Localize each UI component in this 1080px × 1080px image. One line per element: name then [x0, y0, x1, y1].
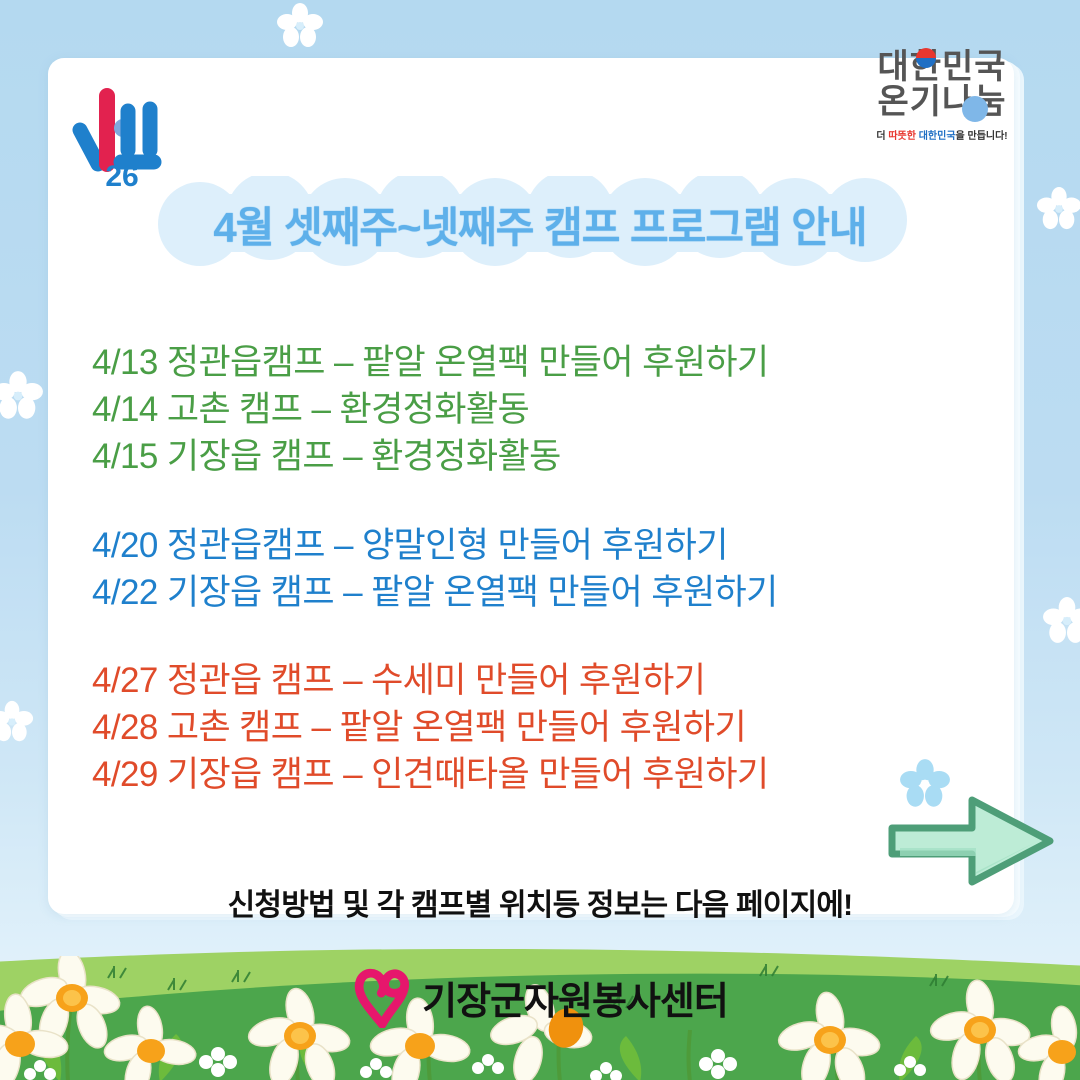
- tagline-korea: 대한민국: [919, 131, 956, 142]
- organization-name: 기장군자원봉사센터: [422, 970, 728, 1025]
- partner-logo-tagline: 더 따뜻한 대한민국을 만듭니다!: [862, 127, 1022, 142]
- partner-logo: 대한민국 온기나눔 더 따뜻한 대한민국을 만듭니다!: [862, 50, 1022, 175]
- footer-note: 신청방법 및 각 캠프별 위치등 정보는 다음 페이지에!: [0, 880, 1080, 924]
- program-line: 4/27 정관읍 캠프 – 수세미 만들어 후원하기: [92, 658, 988, 705]
- daffodil-flower: [102, 1004, 198, 1080]
- program-group-week-five: 4/27 정관읍 캠프 – 수세미 만들어 후원하기 4/28 고촌 캠프 – …: [92, 658, 988, 799]
- partner-logo-line1: 대한민국: [862, 50, 1022, 84]
- tagline-pre: 더: [876, 131, 888, 142]
- background-flower-icon: [276, 2, 324, 50]
- page-title: 4월 셋째주~넷째주 캠프 프로그램 안내: [0, 194, 1080, 255]
- tagline-warm: 따뜻한: [888, 131, 918, 142]
- program-line: 4/14 고촌 캠프 – 환경정화활동: [92, 387, 988, 434]
- program-line: 4/22 기장읍 캠프 – 팥알 온열팩 만들어 후원하기: [92, 570, 988, 617]
- background-flower-icon: [0, 370, 44, 422]
- program-group-week-four: 4/20 정관읍캠프 – 양말인형 만들어 후원하기 4/22 기장읍 캠프 –…: [92, 523, 988, 617]
- daffodil-flower: [1016, 1004, 1080, 1080]
- organization-logo: 기장군자원봉사센터: [352, 966, 728, 1028]
- tagline-post: 을 만듭니다!: [956, 131, 1008, 142]
- program-line: 4/29 기장읍 캠프 – 인견때타올 만들어 후원하기: [92, 752, 988, 799]
- program-line: 4/20 정관읍캠프 – 양말인형 만들어 후원하기: [92, 523, 988, 570]
- poster-canvas: 26 대한민국 온기나눔 더 따뜻한 대한민국을 만듭니다! 4월 셋째주~넷째…: [0, 0, 1080, 1080]
- program-line: 4/13 정관읍캠프 – 팥알 온열팩 만들어 후원하기: [92, 340, 988, 387]
- background-flower-icon: [1042, 596, 1080, 646]
- partner-logo-line2: 온기나눔: [862, 84, 1022, 121]
- heart-swirl-icon: [352, 966, 414, 1028]
- daffodil-flower: [775, 990, 882, 1080]
- program-line: 4/15 기장읍 캠프 – 환경정화활동: [92, 434, 988, 481]
- program-group-week-three: 4/13 정관읍캠프 – 팥알 온열팩 만들어 후원하기 4/14 고촌 캠프 …: [92, 340, 988, 481]
- taegeuk-icon: [916, 48, 936, 68]
- title-banner: 4월 셋째주~넷째주 캠프 프로그램 안내: [0, 176, 1080, 272]
- logo-dot-icon: [962, 96, 988, 122]
- vu26-logo: 26: [66, 78, 176, 188]
- program-line: 4/28 고촌 캠프 – 팥알 온열팩 만들어 후원하기: [92, 705, 988, 752]
- background-flower-icon: [0, 700, 34, 744]
- program-list: 4/13 정관읍캠프 – 팥알 온열팩 만들어 후원하기 4/14 고촌 캠프 …: [92, 340, 988, 841]
